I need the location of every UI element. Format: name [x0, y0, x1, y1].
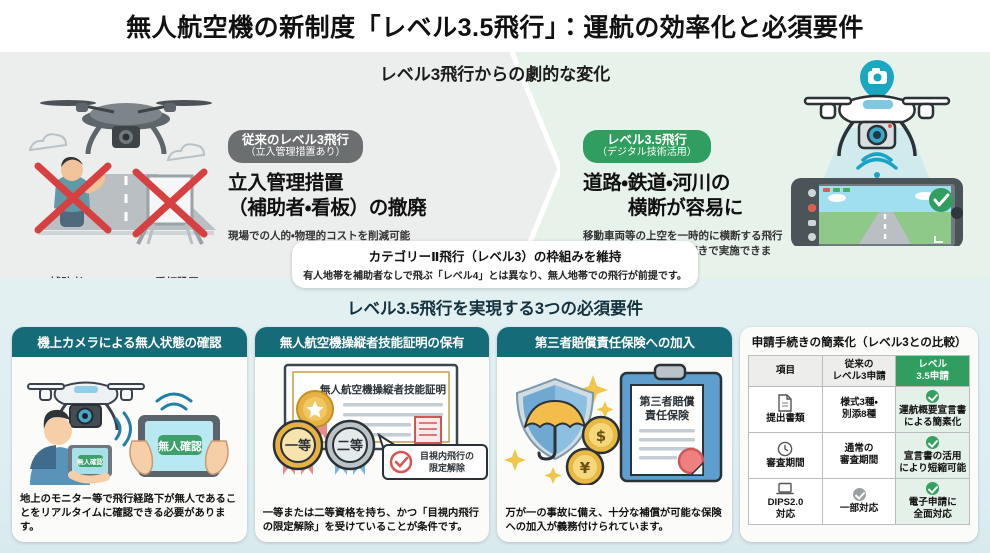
row-label: 提出書類 [766, 413, 804, 424]
row-label-cell: 審査期間 [749, 432, 823, 478]
requirement-card-camera[interactable]: 機上カメラによる無人状態の確認 [12, 327, 247, 542]
card-caption: 一等または二等資格を持ち、かつ「目視内飛行の限定解除」を受けていることが条件です… [255, 503, 490, 542]
requirement-cards: 機上カメラによる無人状態の確認 [0, 319, 990, 542]
card-caption: 地上のモニター等で飛行経路下が無人であることをリアルタイムに確認できる必要があり… [12, 489, 247, 542]
document-line-1: 第三者賠償 [640, 394, 696, 408]
tablet-label-small: 無人確認 [77, 457, 104, 466]
license-illustration: 無人航空機操縦者技能証明 [255, 357, 490, 485]
laptop-icon [776, 482, 794, 496]
medal-first: 一等 [274, 421, 322, 475]
table-header-new: レベル 3.5申請 [896, 356, 970, 387]
table-row: 審査期間 通常の 審査期間 宣言書の活用 により短縮可能 [749, 432, 970, 478]
insurance-document: 第三者賠償 責任保険 [621, 365, 721, 481]
table-title: 申請手続きの簡素化（レベル3との比較） [748, 334, 970, 350]
row-old-cell: 一部対応 [822, 478, 896, 524]
row-new-cell: 宣言書の活用 により短縮可能 [896, 432, 970, 478]
notice-line-2: 有人地帯を補助者なしで飛ぶ「レベル4」とは異なり、無人地帯での飛行が前提です。 [302, 267, 688, 282]
card-caption: 万が一の事故に備え、十分な補償が可能な保険への加入が義務付けられています。 [497, 503, 732, 542]
card-title: 無人航空機操縦者技能証明の保有 [255, 327, 490, 357]
medal-label: 一等 [285, 438, 311, 454]
before-headline: 立入管理措置 （補助者・看板）の撤廃 [228, 171, 443, 221]
check-icon [926, 482, 939, 495]
check-icon [926, 390, 939, 403]
card-illustration: $ ¥ 第三者賠償 責任保険 [497, 357, 732, 503]
shield-icon [517, 379, 593, 459]
row-label: DIPS2.0 [750, 497, 821, 509]
table-row: DIPS2.0 対応 一部対応 電子申請に 全面対応 [749, 478, 970, 524]
badge-after: レベル3.5飛行 （デジタル技術活用） [583, 130, 711, 163]
table-header-item: 項目 [749, 356, 823, 387]
card-illustration: 無人航空機操縦者技能証明 [255, 357, 490, 503]
insurance-illustration: $ ¥ 第三者賠償 責任保険 [497, 357, 732, 485]
tablet-label: 無人確認 [158, 439, 202, 453]
certificate-title: 無人航空機操縦者技能証明 [320, 383, 446, 396]
page-title: 無人航空機の新制度「レベル3.5飛行」：運航の効率化と必須要件 [126, 8, 864, 44]
row-new-cell: 電子申請に 全面対応 [896, 478, 970, 524]
document-line-2: 責任保険 [645, 408, 690, 422]
comparison-heading: レベル3飛行からの劇的な変化 [0, 60, 990, 85]
before-text-block: 従来のレベル3飛行 （立入管理措置あり） 立入管理措置 （補助者・看板）の撤廃 … [228, 130, 443, 244]
row-label-cell: 提出書類 [749, 386, 823, 432]
tablet-large: 無人確認 [130, 415, 228, 477]
camera-check-illustration: 無人確認 [12, 357, 247, 485]
svg-text:¥: ¥ [580, 459, 591, 477]
illustration-before [8, 78, 238, 263]
signal-icon [157, 394, 191, 409]
card-title: 機上カメラによる無人状態の確認 [12, 327, 247, 357]
requirements-section: レベル3.5飛行を実現する3つの必須要件 機上カメラによる無人状態の確認 [0, 278, 990, 553]
svg-text:$: $ [596, 427, 606, 445]
stamp-icon [415, 417, 441, 443]
controller-screen [791, 178, 963, 246]
medal-label: 二等 [337, 438, 363, 454]
card-title: 第三者賠償責任保険への加入 [497, 327, 732, 357]
comparison-table-panel[interactable]: 申請手続きの簡素化（レベル3との比較） 項目 従来の レベル3申請 レベル 3.… [740, 327, 978, 542]
medal-second: 二等 [326, 421, 374, 475]
requirement-card-license[interactable]: 無人航空機操縦者技能証明の保有 無人航空機操縦者技能証明 [255, 327, 490, 542]
clock-icon [777, 440, 793, 457]
page-title-bar: 無人航空機の新制度「レベル3.5飛行」：運航の効率化と必須要件 [0, 0, 990, 52]
row-old-cell: 様式3種・ 別添8種 [822, 386, 896, 432]
row-old-cell: 通常の 審査期間 [822, 432, 896, 478]
table-row: 提出書類 様式3種・ 別添8種 運航概要宣言書 による簡素化 [749, 386, 970, 432]
row-label-2: 対応 [750, 509, 821, 521]
requirement-card-insurance[interactable]: 第三者賠償責任保険への加入 [497, 327, 732, 542]
table-header-row: 項目 従来の レベル3申請 レベル 3.5申請 [749, 356, 970, 387]
card-illustration: 無人確認 [12, 357, 247, 489]
row-new-cell: 運航概要宣言書 による簡素化 [896, 386, 970, 432]
check-icon-grey [853, 488, 866, 501]
infographic-page: 無人航空機の新制度「レベル3.5飛行」：運航の効率化と必須要件 レベル3飛行から… [0, 0, 990, 553]
document-icon [777, 394, 793, 412]
row-label: 審査期間 [766, 458, 804, 469]
table-header-old: 従来の レベル3申請 [822, 356, 896, 387]
notice-line-1: カテゴリーⅡ飛行（レベル3）の枠組みを維持 [302, 246, 688, 265]
badge-before: 従来のレベル3飛行 （立入管理措置あり） [228, 130, 363, 163]
coin-dollar: $ [583, 417, 619, 453]
row-label-cell: DIPS2.0 対応 [749, 478, 823, 524]
check-icon [926, 436, 939, 449]
coin-yen: ¥ [567, 449, 603, 485]
after-headline: 道路・鉄道・河川の 横断が容易に [583, 171, 788, 221]
comparison-table: 項目 従来の レベル3申請 レベル 3.5申請 [748, 355, 970, 525]
notice-ribbon: カテゴリーⅡ飛行（レベル3）の枠組みを維持 有人地帯を補助者なしで飛ぶ「レベル4… [292, 241, 698, 288]
callout-line-2: 限定解除 [429, 462, 466, 474]
callout-line-1: 目視内飛行の [420, 450, 474, 462]
